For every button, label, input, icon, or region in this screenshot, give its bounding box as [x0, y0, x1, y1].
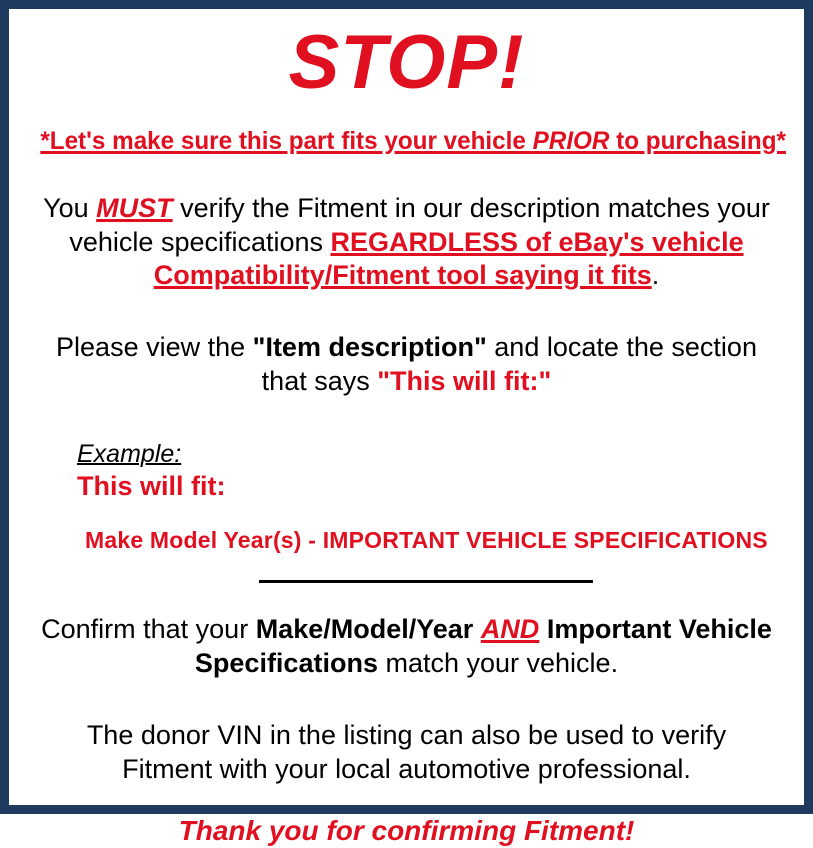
- and-emphasis: AND: [481, 614, 540, 644]
- section-divider: [259, 580, 593, 583]
- paragraph-donor-vin: The donor VIN in the listing can also be…: [29, 719, 784, 787]
- example-block: Example: This will fit: Make Model Year(…: [29, 441, 784, 554]
- subtitle-warning-line: *Let's make sure this part fits your veh…: [40, 127, 772, 156]
- make-model-year-emphasis: Make/Model/Year: [256, 614, 474, 644]
- item-description-emphasis: "Item description": [253, 332, 487, 362]
- closing-thank-you: Thank you for confirming Fitment!: [29, 814, 784, 848]
- stop-title: STOP!: [29, 25, 784, 101]
- example-fit-heading: This will fit:: [77, 471, 784, 502]
- must-text-part-1: You: [43, 193, 96, 223]
- example-label: Example:: [77, 441, 181, 469]
- must-emphasis: MUST: [96, 193, 173, 223]
- paragraph-confirm-match: Confirm that your Make/Model/Year AND Im…: [29, 613, 784, 681]
- notice-content: STOP! *Let's make sure this part fits yo…: [9, 25, 804, 821]
- confirm-text-part-1: Confirm that your: [41, 614, 256, 644]
- view-text-part-1: Please view the: [56, 332, 253, 362]
- confirm-text-part-2: match your vehicle.: [378, 648, 618, 678]
- example-label-row: Example:: [77, 441, 784, 469]
- subtitle-prior-emphasis: PRIOR: [533, 127, 610, 155]
- this-will-fit-emphasis: "This will fit:": [377, 366, 551, 396]
- subtitle-text-before: *Let's make sure this part fits your veh…: [40, 127, 532, 155]
- example-spec-line: Make Model Year(s) - IMPORTANT VEHICLE S…: [85, 528, 784, 553]
- must-text-part-3: .: [652, 260, 660, 290]
- fitment-notice-card: STOP! *Let's make sure this part fits yo…: [0, 0, 813, 814]
- paragraph-must-verify: You MUST verify the Fitment in our descr…: [29, 192, 784, 293]
- paragraph-view-item-description: Please view the "Item description" and l…: [29, 331, 784, 399]
- subtitle-text-after: to purchasing*: [609, 127, 786, 155]
- divider-wrap: [29, 579, 784, 583]
